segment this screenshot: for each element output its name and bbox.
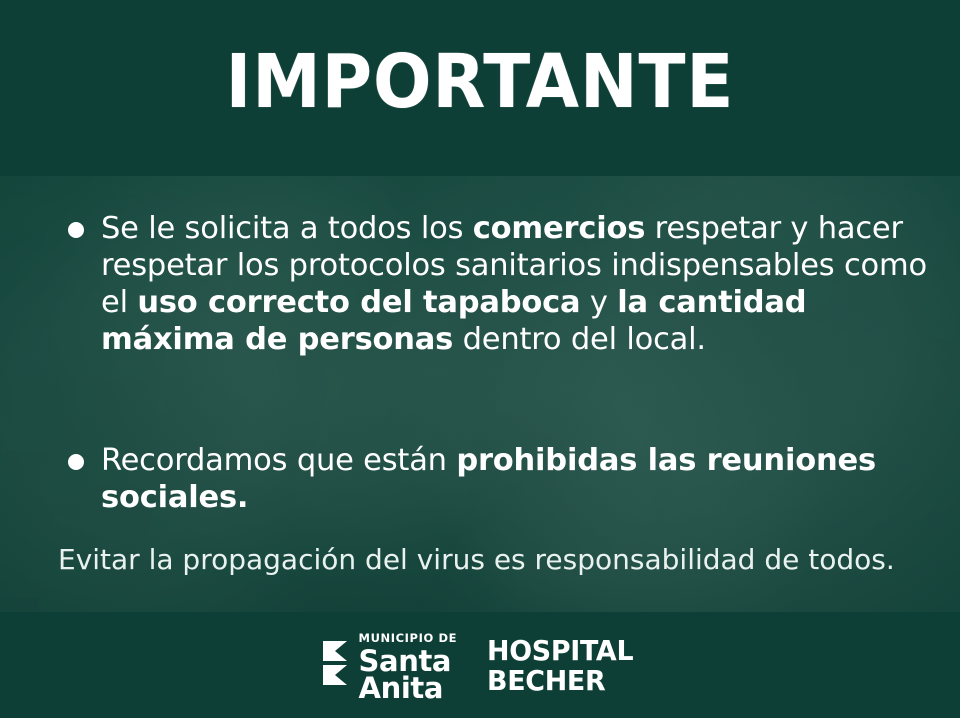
- hospital-name-line1: HOSPITAL: [487, 637, 633, 665]
- bullet-item-1: Se le solicita a todos los comercios res…: [68, 210, 928, 358]
- bullet-dot-icon: [68, 454, 84, 470]
- municipio-flag-icon: [321, 639, 351, 693]
- bullet-item-2: Recordamos que están prohibidas las reun…: [68, 442, 928, 516]
- bullet-text-2: Recordamos que están prohibidas las reun…: [101, 442, 928, 516]
- footnote-text: Evitar la propagación del virus es respo…: [58, 543, 938, 577]
- hospital-name-line2: BECHER: [487, 667, 633, 695]
- logo-municipio-santa-anita: MUNICIPIO DE Santa Anita: [321, 630, 458, 703]
- municipio-wordmark: MUNICIPIO DE Santa Anita: [359, 630, 458, 703]
- poster-canvas: IMPORTANTE Se le solicita a todos los co…: [0, 0, 960, 718]
- bullet-dot-icon: [68, 222, 84, 238]
- municipio-kicker: MUNICIPIO DE: [359, 631, 458, 645]
- logo-row: MUNICIPIO DE Santa Anita HOSPITAL BECHER: [0, 620, 960, 712]
- poster-title: IMPORTANTE: [34, 42, 927, 122]
- municipio-name-line2: Anita: [359, 674, 458, 703]
- poster-body: Se le solicita a todos los comercios res…: [0, 176, 960, 612]
- bullet-text-1: Se le solicita a todos los comercios res…: [101, 210, 928, 358]
- logo-hospital-becher: HOSPITAL BECHER: [483, 637, 639, 695]
